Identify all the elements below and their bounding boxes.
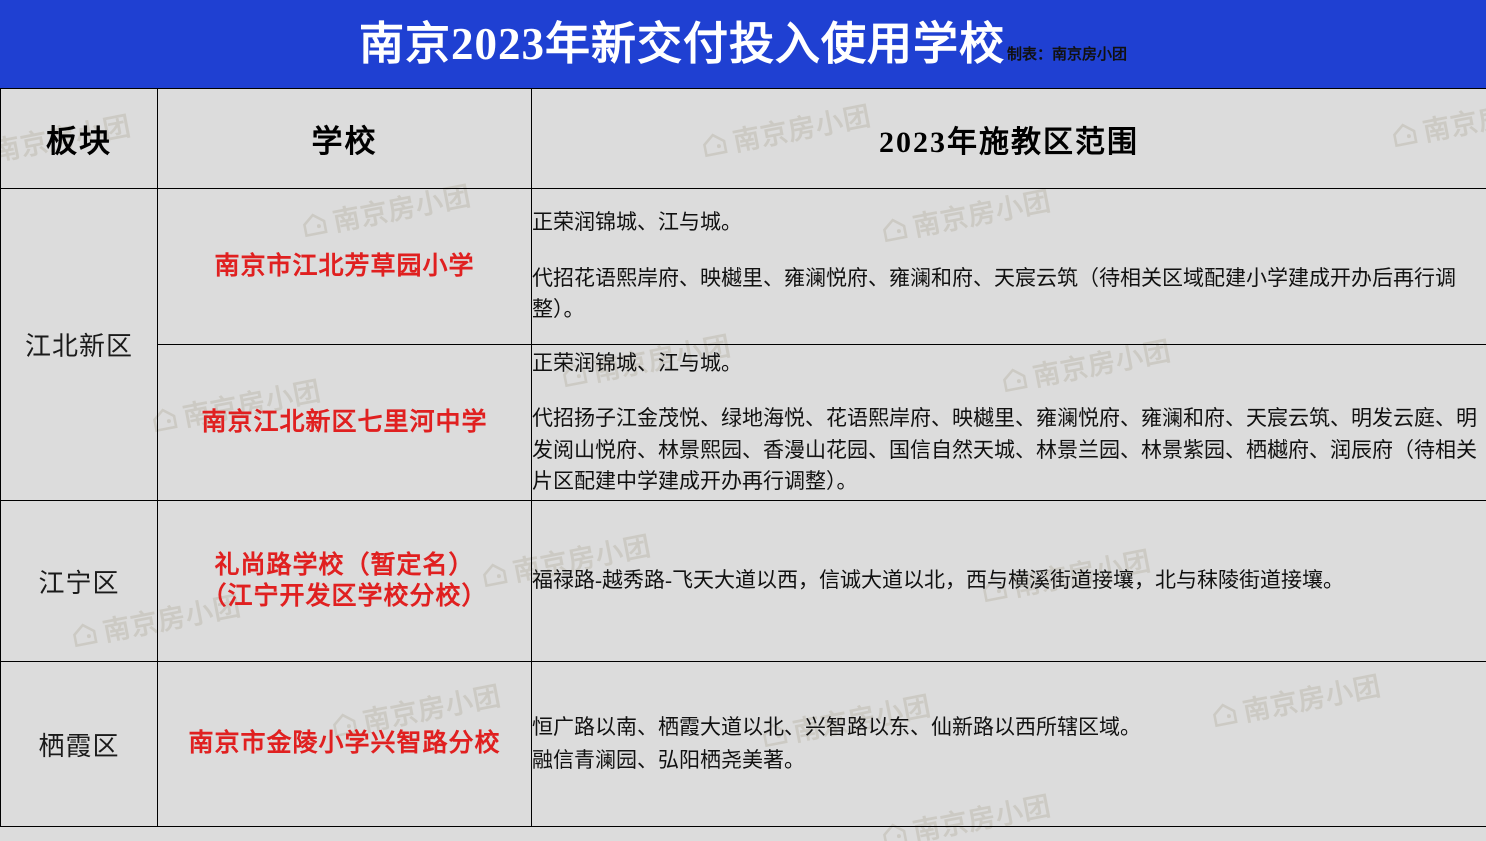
cell-district-jiangbei: 江北新区	[1, 189, 158, 501]
scope-paragraph: 正荣润锦城、江与城。	[532, 207, 1486, 239]
column-header-school: 学校	[158, 89, 532, 189]
scope-paragraph: 代招花语熙岸府、映樾里、雍澜悦府、雍澜和府、天宸云筑（待相关区域配建小学建成开办…	[532, 263, 1486, 326]
cell-scope-jinling-xingzhilu: 恒广路以南、栖霞大道以北、兴智路以东、仙新路以西所辖区域。 融信青澜园、弘阳栖尧…	[532, 662, 1486, 827]
cell-school-qilihe: 南京江北新区七里河中学	[158, 345, 532, 501]
table-row: 江宁区 礼尚路学校（暂定名） （江宁开发区学校分校） 福禄路-越秀路-飞天大道以…	[1, 501, 1486, 662]
poster-title-bar: 南京2023年新交付投入使用学校 制表：南京房小团	[0, 0, 1486, 88]
cell-district-jiangning: 江宁区	[1, 501, 158, 662]
poster-canvas: 南京房小团 南京房小团 南京房小团 南京房小团 南京房小团 南京房小团 南京房小…	[0, 0, 1486, 841]
school-name-line: 南京市江北芳草园小学	[158, 251, 531, 282]
school-name-line: 礼尚路学校（暂定名）	[158, 550, 531, 581]
scope-paragraph: 正荣润锦城、江与城。	[532, 348, 1486, 380]
cell-school-fangcaoyuan: 南京市江北芳草园小学	[158, 189, 532, 345]
cell-district-qixia: 栖霞区	[1, 662, 158, 827]
title-credit: 制表：南京房小团	[1007, 43, 1127, 64]
cell-scope-fangcaoyuan: 正荣润锦城、江与城。 代招花语熙岸府、映樾里、雍澜悦府、雍澜和府、天宸云筑（待相…	[532, 189, 1486, 345]
column-header-scope: 2023年施教区范围	[532, 89, 1486, 189]
scope-paragraph: 融信青澜园、弘阳栖尧美著。	[532, 745, 1486, 777]
table-header-row: 板块 学校 2023年施教区范围	[1, 89, 1486, 189]
cell-scope-qilihe: 正荣润锦城、江与城。 代招扬子江金茂悦、绿地海悦、花语熙岸府、映樾里、雍澜悦府、…	[532, 345, 1486, 501]
cell-scope-lishanglu: 福禄路-越秀路-飞天大道以西，信诚大道以北，西与横溪街道接壤，北与秣陵街道接壤。	[532, 501, 1486, 662]
page-title: 南京2023年新交付投入使用学校	[359, 22, 1005, 67]
table-head: 板块 学校 2023年施教区范围	[1, 89, 1486, 189]
schools-table-wrap: 板块 学校 2023年施教区范围 江北新区 南京市江北芳草园小学 正荣润锦城、江…	[0, 88, 1486, 827]
school-name-line: （江宁开发区学校分校）	[158, 581, 531, 612]
school-name-line: 南京江北新区七里河中学	[158, 407, 531, 438]
table-row: 栖霞区 南京市金陵小学兴智路分校 恒广路以南、栖霞大道以北、兴智路以东、仙新路以…	[1, 662, 1486, 827]
cell-school-jinling-xingzhilu: 南京市金陵小学兴智路分校	[158, 662, 532, 827]
table-row: 江北新区 南京市江北芳草园小学 正荣润锦城、江与城。 代招花语熙岸府、映樾里、雍…	[1, 189, 1486, 345]
school-name-line: 南京市金陵小学兴智路分校	[158, 728, 531, 759]
title-inner: 南京2023年新交付投入使用学校 制表：南京房小团	[359, 22, 1127, 67]
schools-table: 板块 学校 2023年施教区范围 江北新区 南京市江北芳草园小学 正荣润锦城、江…	[0, 88, 1486, 827]
scope-paragraph: 恒广路以南、栖霞大道以北、兴智路以东、仙新路以西所辖区域。	[532, 712, 1486, 744]
cell-school-lishanglu: 礼尚路学校（暂定名） （江宁开发区学校分校）	[158, 501, 532, 662]
scope-paragraph: 代招扬子江金茂悦、绿地海悦、花语熙岸府、映樾里、雍澜悦府、雍澜和府、天宸云筑、明…	[532, 403, 1486, 498]
table-row: 南京江北新区七里河中学 正荣润锦城、江与城。 代招扬子江金茂悦、绿地海悦、花语熙…	[1, 345, 1486, 501]
scope-paragraph: 福禄路-越秀路-飞天大道以西，信诚大道以北，西与横溪街道接壤，北与秣陵街道接壤。	[532, 565, 1486, 597]
table-body: 江北新区 南京市江北芳草园小学 正荣润锦城、江与城。 代招花语熙岸府、映樾里、雍…	[1, 189, 1486, 827]
column-header-district: 板块	[1, 89, 158, 189]
